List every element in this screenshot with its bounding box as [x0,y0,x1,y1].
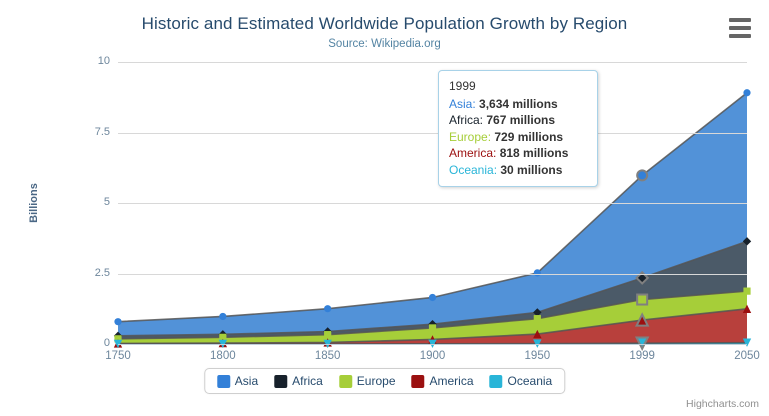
y-gridline [118,274,747,275]
tooltip-row-oceania: Oceania: 30 millions [449,162,587,179]
y-axis-tick-label: 10 [60,55,110,67]
x-axis-tick-label: 1999 [629,350,655,362]
tooltip-series-name: America: [449,146,500,160]
tooltip-row-europe: Europe: 729 millions [449,129,587,146]
chart-subtitle: Source: Wikipedia.org [0,38,769,50]
legend-item-america[interactable]: America [412,374,474,388]
y-gridline [118,62,747,63]
data-point-europe-1900[interactable] [429,324,436,331]
y-axis-tick-label: 5 [60,196,110,208]
tooltip-series-value: 30 millions [500,163,562,177]
legend-item-asia[interactable]: Asia [217,374,258,388]
chart-tooltip: 1999 Asia: 3,634 millionsAfrica: 767 mil… [438,70,598,187]
x-axis-tick-label: 1900 [420,350,446,362]
tooltip-series-value: 729 millions [494,130,563,144]
legend-label: Europe [357,374,396,388]
data-point-asia-1750[interactable] [114,318,121,325]
data-point-europe-1850[interactable] [324,331,331,338]
data-point-europe-1999[interactable] [637,295,647,305]
tooltip-series-value: 767 millions [486,113,555,127]
x-axis-tick-label: 1950 [525,350,551,362]
menu-bar [729,34,751,38]
legend-item-oceania[interactable]: Oceania [490,374,553,388]
data-point-asia-1900[interactable] [429,294,436,301]
highcharts-container: Historic and Estimated Worldwide Populat… [0,0,769,416]
plot-area: Billions 02.557.510175018001850190019501… [60,62,747,344]
x-axis-tick-label: 1750 [105,350,131,362]
data-point-europe-2050[interactable] [743,288,750,295]
tooltip-series-value: 3,634 millions [479,97,558,111]
y-axis-tick-label: 0 [60,337,110,349]
tooltip-row-africa: Africa: 767 millions [449,112,587,129]
legend-swatch-icon [339,375,352,388]
legend-item-europe[interactable]: Europe [339,374,396,388]
highcharts-credit[interactable]: Highcharts.com [686,398,759,410]
data-point-asia-1850[interactable] [324,305,331,312]
x-axis-tick-label: 1850 [315,350,341,362]
plot-inner: Billions 02.557.510175018001850190019501… [60,62,747,344]
legend-swatch-icon [217,375,230,388]
y-gridline [118,203,747,204]
y-axis-tick-label: 2.5 [60,267,110,279]
data-point-asia-1800[interactable] [219,313,226,320]
tooltip-row-america: America: 818 millions [449,145,587,162]
tooltip-series-name: Oceania: [449,163,500,177]
legend-label: Asia [235,374,258,388]
menu-bar [729,18,751,22]
legend-item-africa[interactable]: Africa [274,374,323,388]
x-axis-tick-label: 2050 [734,350,760,362]
tooltip-row-asia: Asia: 3,634 millions [449,96,587,113]
tooltip-header: 1999 [449,78,587,95]
y-axis-tick-label: 7.5 [60,126,110,138]
tooltip-series-value: 818 millions [500,146,569,160]
hamburger-menu-icon[interactable] [727,16,753,40]
legend-swatch-icon [490,375,503,388]
menu-bar [729,26,751,30]
y-gridline [118,344,747,345]
tooltip-series-name: Asia: [449,97,479,111]
tooltip-series-name: Africa: [449,113,486,127]
data-point-asia-2050[interactable] [743,89,750,96]
data-point-asia-1999[interactable] [637,170,647,180]
tooltip-series-name: Europe: [449,130,494,144]
legend-swatch-icon [412,375,425,388]
legend-label: Africa [292,374,323,388]
legend-label: Oceania [508,374,553,388]
tooltip-rows: Asia: 3,634 millionsAfrica: 767 millions… [449,96,587,179]
legend-swatch-icon [274,375,287,388]
x-axis-tick-label: 1800 [210,350,236,362]
y-axis-title: Billions [28,183,40,223]
data-point-europe-1950[interactable] [534,315,541,322]
chart-legend: AsiaAfricaEuropeAmericaOceania [204,368,565,394]
page-title: Historic and Estimated Worldwide Populat… [0,14,769,34]
y-gridline [118,133,747,134]
legend-label: America [430,374,474,388]
